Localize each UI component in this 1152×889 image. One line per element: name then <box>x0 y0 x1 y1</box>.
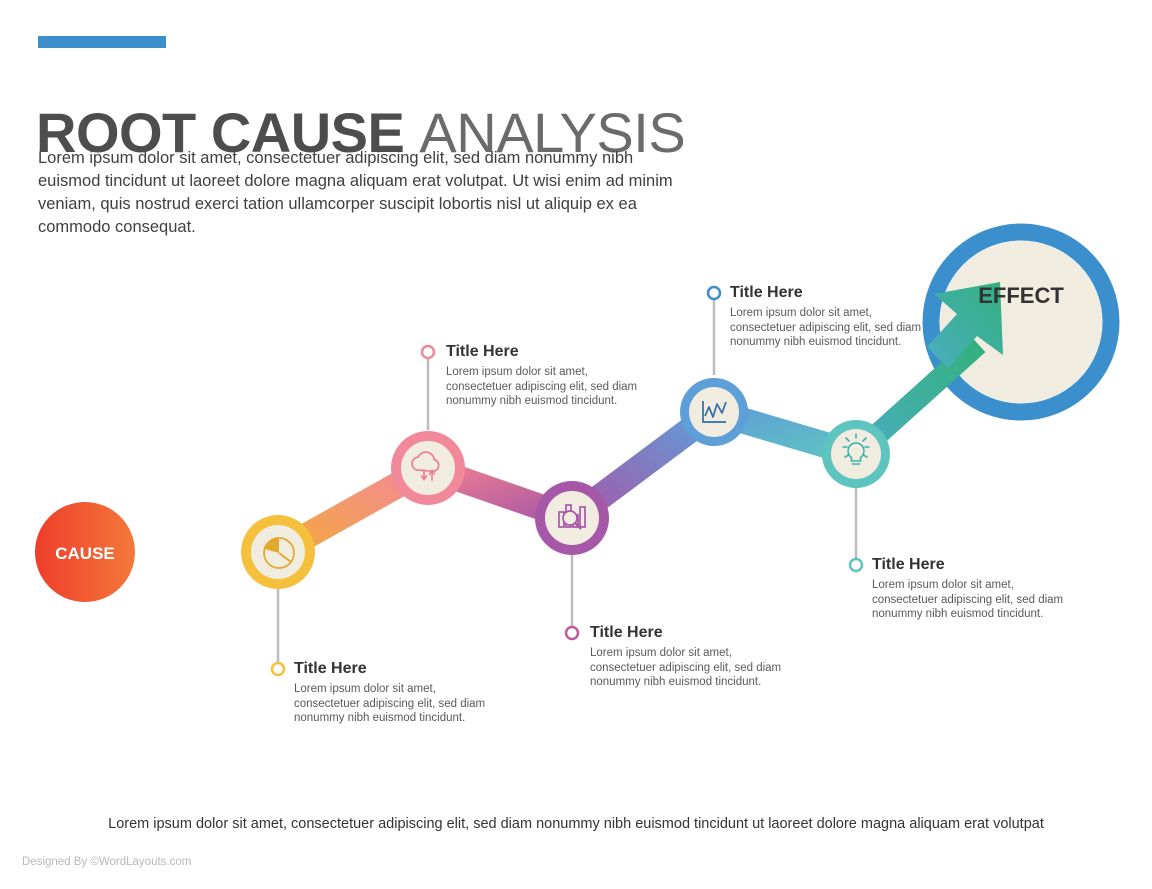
callout-node-1: Title Here Lorem ipsum dolor sit amet, c… <box>294 659 504 726</box>
node-5-group <box>822 420 890 571</box>
node-1-group <box>241 515 315 675</box>
node-5-dot <box>850 559 862 571</box>
callout-node-2-body: Lorem ipsum dolor sit amet, consectetuer… <box>446 365 656 409</box>
node-3-group <box>535 481 609 639</box>
callout-node-2-title: Title Here <box>446 342 656 362</box>
node-1-dot <box>272 663 284 675</box>
callout-node-3-title: Title Here <box>590 623 800 643</box>
callout-node-4-title: Title Here <box>730 283 940 303</box>
callout-node-3-body: Lorem ipsum dolor sit amet, consectetuer… <box>590 646 800 690</box>
callout-node-4-body: Lorem ipsum dolor sit amet, consectetuer… <box>730 306 940 350</box>
root-cause-diagram: CAUSE <box>0 0 1152 889</box>
cause-label: CAUSE <box>55 544 115 563</box>
callout-node-5: Title Here Lorem ipsum dolor sit amet, c… <box>872 555 1082 622</box>
footer-caption: Lorem ipsum dolor sit amet, consectetuer… <box>0 816 1152 832</box>
node-2-dot <box>422 346 434 358</box>
callout-node-5-body: Lorem ipsum dolor sit amet, consectetuer… <box>872 578 1082 622</box>
effect-label: EFFECT <box>978 283 1064 308</box>
cause-node: CAUSE <box>35 502 135 602</box>
callout-node-5-title: Title Here <box>872 555 1082 575</box>
credit-line: Designed By ©WordLayouts.com <box>22 856 191 868</box>
callout-node-3: Title Here Lorem ipsum dolor sit amet, c… <box>590 623 800 690</box>
callout-node-1-title: Title Here <box>294 659 504 679</box>
callout-node-1-body: Lorem ipsum dolor sit amet, consectetuer… <box>294 682 504 726</box>
callout-node-4: Title Here Lorem ipsum dolor sit amet, c… <box>730 283 940 350</box>
node-4-dot <box>708 287 720 299</box>
node-3-dot <box>566 627 578 639</box>
callout-node-2: Title Here Lorem ipsum dolor sit amet, c… <box>446 342 656 409</box>
